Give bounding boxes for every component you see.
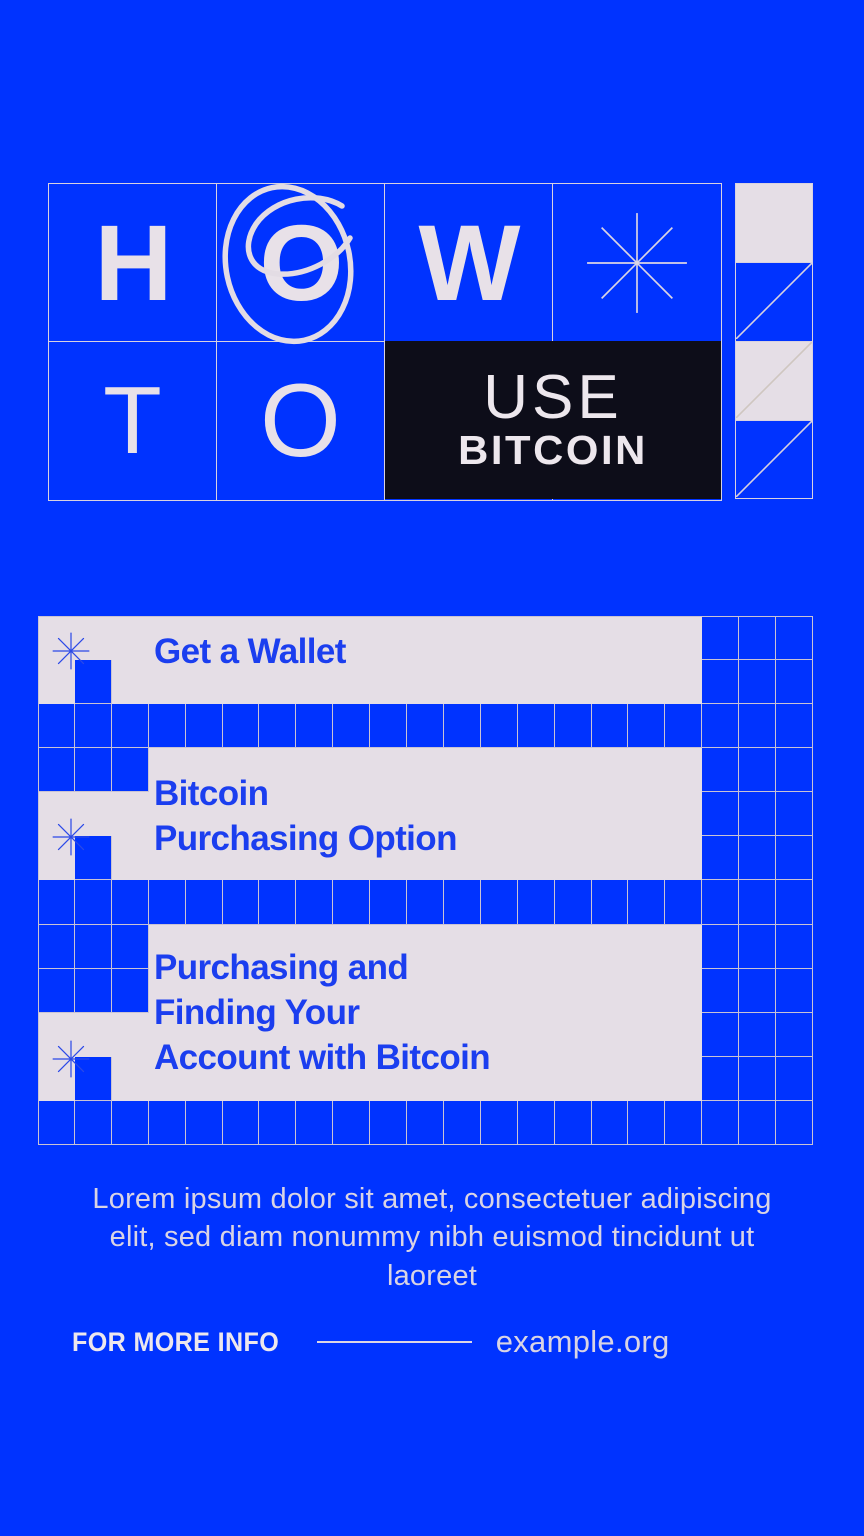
grid-cell <box>223 704 260 748</box>
grid-cell <box>628 969 665 1013</box>
grid-cell <box>739 836 776 880</box>
grid-cell <box>739 748 776 792</box>
grid-cell <box>555 792 592 836</box>
grid-cell <box>38 1101 75 1145</box>
grid-cell <box>112 660 149 704</box>
grid-cell <box>665 880 702 924</box>
grid-cell <box>702 660 739 704</box>
grid-cell <box>555 1057 592 1101</box>
grid-cell <box>186 880 223 924</box>
grid-cell <box>665 969 702 1013</box>
grid-cell <box>702 836 739 880</box>
grid-cell <box>518 704 555 748</box>
grid-cell <box>38 748 75 792</box>
grid-cell <box>665 1057 702 1101</box>
grid-cell <box>555 1013 592 1057</box>
grid-cell <box>481 792 518 836</box>
grid-cell <box>592 660 629 704</box>
grid-cell <box>702 616 739 660</box>
grid-cell <box>739 1101 776 1145</box>
grid-cell <box>739 660 776 704</box>
grid-cell <box>481 660 518 704</box>
grid-cell <box>776 1013 813 1057</box>
grid-cell <box>592 925 629 969</box>
grid-cell <box>702 704 739 748</box>
grid-cell <box>223 880 260 924</box>
header-cell-h: H <box>49 184 217 342</box>
grid-cell <box>444 1101 481 1145</box>
grid-cell <box>702 1057 739 1101</box>
diagonal-line-icon <box>736 342 812 418</box>
grid-cell <box>665 616 702 660</box>
grid-cell <box>518 969 555 1013</box>
grid-cell <box>702 792 739 836</box>
grid-cell <box>259 1101 296 1145</box>
grid-cell <box>555 1101 592 1145</box>
decor-cell-3 <box>735 341 813 420</box>
grid-cell <box>592 880 629 924</box>
footer-divider <box>317 1341 472 1343</box>
body-paragraph: Lorem ipsum dolor sit amet, consectetuer… <box>82 1180 782 1295</box>
grid-cell <box>555 836 592 880</box>
grid-cell <box>628 704 665 748</box>
grid-cell <box>665 704 702 748</box>
grid-cell <box>481 704 518 748</box>
grid-cell <box>739 616 776 660</box>
use-bitcoin-badge: USE BITCOIN <box>385 341 721 499</box>
grid-cell <box>75 748 112 792</box>
grid-cell <box>112 748 149 792</box>
footer-website[interactable]: example.org <box>496 1324 670 1360</box>
step-1-line-1: Get a Wallet <box>154 630 346 675</box>
grid-cell <box>444 616 481 660</box>
step-1-star-icon <box>52 632 90 670</box>
grid-cell <box>555 616 592 660</box>
grid-cell <box>518 1057 555 1101</box>
grid-cell <box>665 792 702 836</box>
grid-cell <box>776 704 813 748</box>
grid-cell <box>259 704 296 748</box>
grid-cell <box>149 704 186 748</box>
grid-cell <box>296 1101 333 1145</box>
grid-cell <box>38 704 75 748</box>
grid-cell <box>592 748 629 792</box>
grid-cell <box>592 836 629 880</box>
grid-cell <box>75 1101 112 1145</box>
grid-cell <box>739 1057 776 1101</box>
grid-cell <box>776 660 813 704</box>
grid-cell <box>776 836 813 880</box>
grid-cell <box>739 925 776 969</box>
header-letter-t: T <box>103 373 162 469</box>
step-2-line-1: Bitcoin <box>154 772 457 817</box>
grid-cell <box>112 880 149 924</box>
grid-cell <box>481 1101 518 1145</box>
grid-cell <box>555 880 592 924</box>
grid-cell <box>112 792 149 836</box>
grid-cell <box>665 660 702 704</box>
grid-cell <box>75 969 112 1013</box>
grid-cell <box>75 880 112 924</box>
grid-cell <box>702 969 739 1013</box>
decor-cell-1 <box>735 183 813 262</box>
grid-cell <box>407 1101 444 1145</box>
poster-canvas: H O W T O <box>0 0 864 1536</box>
grid-cell <box>665 836 702 880</box>
eight-point-star-icon <box>585 211 689 315</box>
header-cell-o: O <box>217 184 385 342</box>
grid-cell <box>739 792 776 836</box>
step-2-line-2: Purchasing Option <box>154 817 457 862</box>
grid-cell <box>739 880 776 924</box>
grid-cell <box>702 880 739 924</box>
grid-cell <box>75 704 112 748</box>
grid-cell <box>518 1013 555 1057</box>
grid-cell <box>592 1057 629 1101</box>
grid-cell <box>628 660 665 704</box>
grid-cell <box>112 616 149 660</box>
grid-cell <box>592 792 629 836</box>
grid-cell <box>628 880 665 924</box>
grid-cell <box>628 1013 665 1057</box>
footer: FOR MORE INFO example.org <box>72 1320 792 1364</box>
grid-cell <box>112 704 149 748</box>
grid-cell <box>481 836 518 880</box>
grid-cell <box>518 660 555 704</box>
grid-cell <box>702 1101 739 1145</box>
step-2-title: BitcoinPurchasing Option <box>154 772 457 862</box>
header-cell-star <box>553 184 721 342</box>
grid-cell <box>481 880 518 924</box>
grid-cell <box>628 792 665 836</box>
grid-cell <box>149 1101 186 1145</box>
header-cell-t: T <box>49 342 217 500</box>
grid-cell <box>628 1101 665 1145</box>
grid-cell <box>407 660 444 704</box>
grid-cell <box>259 880 296 924</box>
grid-cell <box>702 748 739 792</box>
grid-cell <box>481 748 518 792</box>
grid-cell <box>186 1101 223 1145</box>
grid-cell <box>776 1101 813 1145</box>
grid-cell <box>444 660 481 704</box>
grid-cell <box>702 925 739 969</box>
grid-cell <box>112 1101 149 1145</box>
grid-cell <box>444 880 481 924</box>
grid-cell <box>628 836 665 880</box>
header-letter-h: H <box>95 209 171 317</box>
grid-cell <box>370 880 407 924</box>
grid-cell <box>776 969 813 1013</box>
grid-cell <box>628 616 665 660</box>
grid-cell <box>776 880 813 924</box>
grid-cell <box>555 748 592 792</box>
grid-cell <box>518 792 555 836</box>
grid-cell <box>628 748 665 792</box>
grid-cell <box>776 616 813 660</box>
header-letter-w: W <box>419 209 519 317</box>
grid-cell <box>518 925 555 969</box>
grid-cell <box>112 1013 149 1057</box>
badge-line-use: USE <box>483 369 622 428</box>
grid-cell <box>370 616 407 660</box>
grid-cell <box>628 1057 665 1101</box>
grid-cell <box>665 748 702 792</box>
step-3-star-icon <box>52 1040 90 1078</box>
step-3-title: Purchasing andFinding YourAccount with B… <box>154 946 490 1080</box>
grid-cell <box>592 1013 629 1057</box>
grid-cell <box>518 1101 555 1145</box>
grid-cell <box>592 969 629 1013</box>
grid-cell <box>665 925 702 969</box>
grid-cell <box>739 1013 776 1057</box>
grid-cell <box>296 704 333 748</box>
grid-cell <box>776 748 813 792</box>
grid-cell <box>776 925 813 969</box>
grid-cell <box>518 836 555 880</box>
grid-cell <box>628 925 665 969</box>
step-1-title: Get a Wallet <box>154 630 346 675</box>
grid-cell <box>333 880 370 924</box>
grid-cell <box>555 660 592 704</box>
grid-cell <box>702 1013 739 1057</box>
grid-cell <box>407 616 444 660</box>
grid-cell <box>112 925 149 969</box>
grid-cell <box>739 704 776 748</box>
grid-cell <box>407 704 444 748</box>
grid-cell <box>370 1101 407 1145</box>
diagonal-line-icon <box>736 421 812 497</box>
grid-cell <box>407 880 444 924</box>
step-3-line-1: Purchasing and <box>154 946 490 991</box>
grid-cell <box>333 1101 370 1145</box>
grid-cell <box>333 704 370 748</box>
grid-cell <box>776 1057 813 1101</box>
grid-cell <box>555 925 592 969</box>
footer-label: FOR MORE INFO <box>72 1327 279 1358</box>
grid-cell <box>38 880 75 924</box>
grid-cell <box>665 1101 702 1145</box>
grid-cell <box>481 616 518 660</box>
grid-cell <box>592 616 629 660</box>
grid-cell <box>38 969 75 1013</box>
grid-cell <box>739 969 776 1013</box>
step-3-line-2: Finding Your <box>154 991 490 1036</box>
grid-cell <box>592 704 629 748</box>
grid-cell <box>555 704 592 748</box>
grid-cell <box>112 1057 149 1101</box>
grid-cell <box>112 969 149 1013</box>
diagonal-line-icon <box>736 263 812 339</box>
step-2-star-icon <box>52 818 90 856</box>
grid-cell <box>149 880 186 924</box>
grid-cell <box>555 969 592 1013</box>
decor-cell-2 <box>735 262 813 341</box>
grid-cell <box>112 836 149 880</box>
header-decor-column <box>735 183 813 499</box>
grid-cell <box>370 704 407 748</box>
grid-cell <box>776 792 813 836</box>
grid-cell <box>518 748 555 792</box>
grid-cell <box>518 616 555 660</box>
header-letter-o2: O <box>260 369 341 473</box>
header-cell-o2: O <box>217 342 385 500</box>
grid-cell <box>370 660 407 704</box>
grid-cell <box>38 925 75 969</box>
grid-cell <box>518 880 555 924</box>
grid-cell <box>296 880 333 924</box>
decor-cell-4 <box>735 420 813 499</box>
header-cell-w: W <box>385 184 553 342</box>
step-3-line-3: Account with Bitcoin <box>154 1036 490 1081</box>
header-letter-o: O <box>259 209 341 317</box>
grid-cell <box>75 925 112 969</box>
grid-cell <box>444 704 481 748</box>
grid-cell <box>665 1013 702 1057</box>
badge-line-bitcoin: BITCOIN <box>458 430 648 471</box>
grid-cell <box>186 704 223 748</box>
grid-cell <box>592 1101 629 1145</box>
grid-cell <box>223 1101 260 1145</box>
